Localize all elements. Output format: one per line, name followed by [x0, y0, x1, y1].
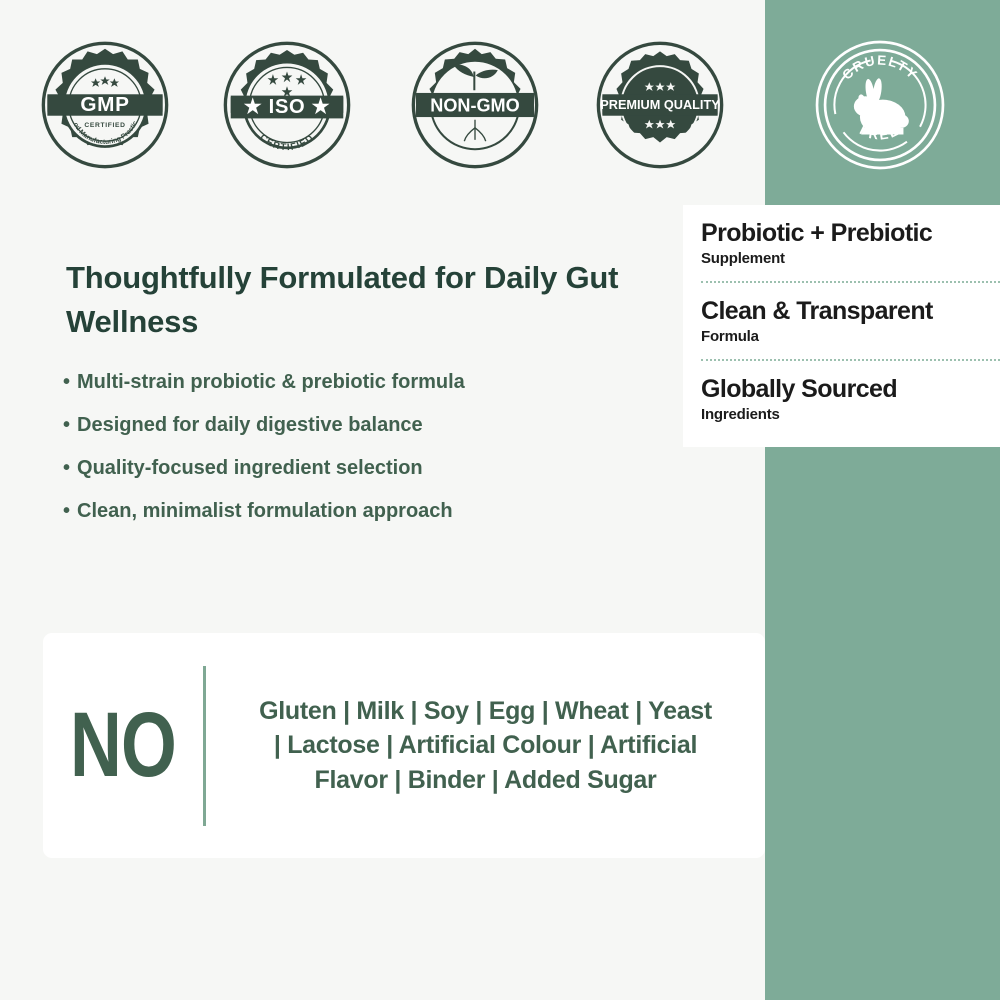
free-from-line: Gluten | Milk | Soy | Egg | Wheat | Yeas… [222, 694, 749, 729]
gmp-main-label: GMP [80, 93, 129, 116]
feature-subtitle: Ingredients [701, 405, 1000, 425]
iso-main-label: ★ ISO ★ [244, 96, 331, 118]
cruelty-free-badge: CRUELTY FREE [813, 38, 947, 172]
certification-badge-strip: GMP CERTIFIED Good Manufacturing Practic… [0, 0, 1000, 210]
feature-divider [701, 359, 1000, 361]
bullet-text: Clean, minimalist formulation approach [77, 500, 453, 522]
feature-subtitle: Supplement [701, 249, 1000, 269]
bullet-text: Designed for daily digestive balance [77, 414, 423, 436]
bullet-text: Quality-focused ingredient selection [77, 457, 423, 479]
feature-block-probiotic-prebiotic: Probiotic + Prebiotic Supplement [701, 219, 1000, 268]
free-from-card: NO Gluten | Milk | Soy | Egg | Wheat | Y… [43, 633, 765, 858]
gmp-sub-label: CERTIFIED [84, 122, 125, 129]
benefit-bullet-list: •Multi-strain probiotic & prebiotic form… [63, 372, 663, 544]
list-item: •Designed for daily digestive balance [63, 415, 663, 435]
feature-divider [701, 281, 1000, 283]
premium-quality-badge: PREMIUM QUALITY [593, 38, 727, 172]
premium-quality-main-label: PREMIUM QUALITY [600, 97, 720, 112]
free-from-ingredient-list: Gluten | Milk | Soy | Egg | Wheat | Yeas… [206, 694, 765, 798]
feature-title: Probiotic + Prebiotic [701, 219, 1000, 249]
non-gmo-main-label: NON-GMO [430, 96, 519, 116]
iso-certified-badge: ★ ISO ★ CERTIFIED [220, 38, 354, 172]
list-item: •Multi-strain probiotic & prebiotic form… [63, 372, 663, 392]
gmp-certified-badge: GMP CERTIFIED Good Manufacturing Practic… [38, 38, 172, 172]
bullet-text: Multi-strain probiotic & prebiotic formu… [77, 371, 465, 393]
list-item: •Quality-focused ingredient selection [63, 458, 663, 478]
page-headline: Thoughtfully Formulated for Daily Gut We… [66, 256, 666, 344]
non-gmo-badge: NON-GMO [408, 38, 542, 172]
bullet-dot-icon: • [63, 371, 70, 393]
feature-title: Globally Sourced [701, 375, 1000, 405]
feature-title: Clean & Transparent [701, 297, 1000, 327]
bullet-dot-icon: • [63, 457, 70, 479]
no-word-label: NO [61, 704, 186, 787]
free-from-line: Flavor | Binder | Added Sugar [222, 763, 749, 798]
feature-block-globally-sourced: Globally Sourced Ingredients [701, 375, 1000, 424]
bullet-dot-icon: • [63, 500, 70, 522]
feature-highlight-card: Probiotic + Prebiotic Supplement Clean &… [683, 205, 1000, 447]
feature-block-clean-transparent: Clean & Transparent Formula [701, 297, 1000, 346]
list-item: •Clean, minimalist formulation approach [63, 501, 663, 521]
feature-subtitle: Formula [701, 327, 1000, 347]
free-from-line: | Lactose | Artificial Colour | Artifici… [222, 728, 749, 763]
bullet-dot-icon: • [63, 414, 70, 436]
